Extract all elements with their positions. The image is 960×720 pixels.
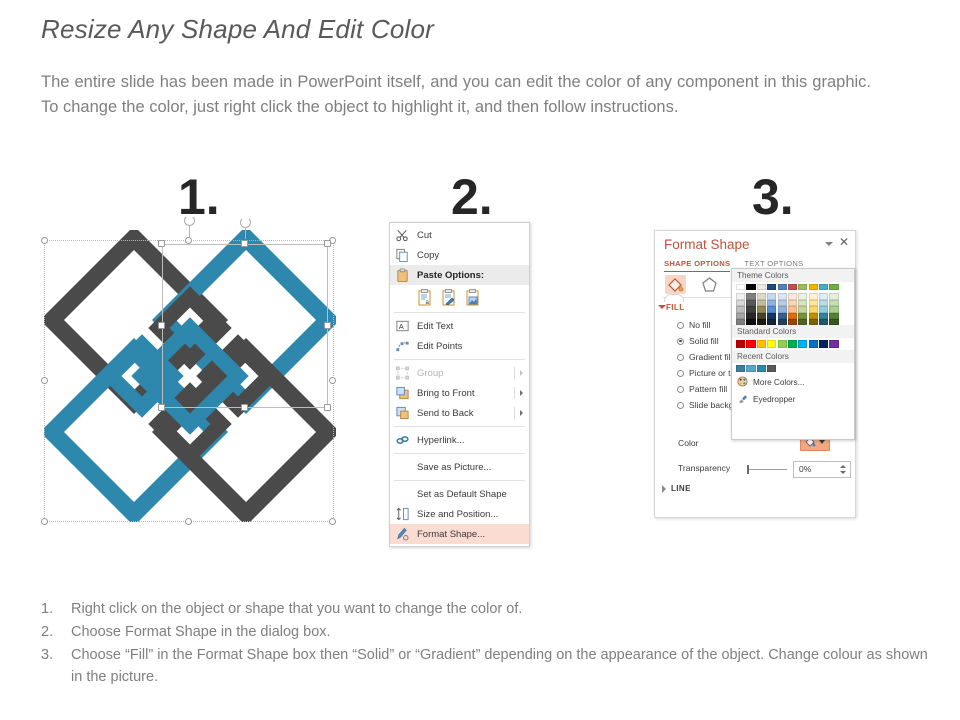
resize-handle-e[interactable] — [329, 377, 336, 384]
resize-handle-n[interactable] — [185, 237, 192, 244]
list-number: 1. — [41, 598, 71, 620]
theme-color-column[interactable] — [757, 284, 766, 325]
transparency-stepper[interactable]: 0% — [793, 461, 851, 478]
resize-handle-sw[interactable] — [41, 518, 48, 525]
list-text: Choose Format Shape in the dialog box. — [71, 621, 941, 643]
paste-keep-text-icon[interactable]: a — [417, 289, 432, 306]
color-swatch[interactable] — [767, 365, 776, 373]
inner-handle-e[interactable] — [324, 322, 331, 329]
rotation-stem-outer — [189, 226, 190, 237]
submenu-divider — [514, 407, 515, 419]
pentagon-effects-icon[interactable] — [700, 276, 719, 293]
resize-handle-nw[interactable] — [41, 237, 48, 244]
list-number: 3. — [41, 644, 71, 688]
theme-color-column[interactable] — [829, 284, 838, 325]
list-text: Choose “Fill” in the Format Shape box th… — [71, 644, 941, 688]
menu-item-edit-text[interactable]: A Edit Text — [390, 316, 529, 336]
menu-label: Send to Back — [417, 408, 474, 419]
color-label: Color — [678, 438, 699, 448]
line-section-expand-icon[interactable] — [662, 485, 666, 493]
menu-separator — [394, 312, 525, 313]
submenu-divider — [514, 387, 515, 399]
color-swatch[interactable] — [778, 319, 787, 325]
eyedropper-item[interactable]: Eyedropper — [732, 391, 854, 408]
chevron-down-icon[interactable] — [819, 440, 825, 444]
list-item: 2. Choose Format Shape in the dialog box… — [41, 621, 941, 643]
recent-colors-header: Recent Colors — [732, 350, 854, 363]
step-numeral-3: 3. — [752, 172, 794, 222]
shape-graphic-panel — [44, 230, 336, 522]
color-swatch[interactable] — [746, 340, 755, 348]
color-swatch[interactable] — [746, 319, 755, 325]
list-number: 2. — [41, 621, 71, 643]
menu-item-set-default-shape[interactable]: Set as Default Shape — [390, 484, 529, 504]
resize-handle-w[interactable] — [41, 377, 48, 384]
intro-paragraph: The entire slide has been made in PowerP… — [41, 70, 871, 120]
color-swatch[interactable] — [757, 319, 766, 325]
send-back-icon — [395, 406, 410, 421]
clipboard-icon — [395, 268, 410, 283]
menu-item-format-shape[interactable]: Format Shape... — [390, 524, 529, 544]
menu-separator — [394, 480, 525, 481]
standard-colors-row[interactable] — [732, 338, 854, 350]
color-dropdown-flyout[interactable]: Theme Colors Standard Colors Recent Colo… — [731, 268, 855, 440]
color-swatch[interactable] — [736, 365, 745, 373]
inner-handle-sw[interactable] — [158, 404, 165, 411]
color-swatch[interactable] — [819, 319, 828, 325]
color-swatch[interactable] — [778, 340, 787, 348]
color-swatch[interactable] — [746, 365, 755, 373]
theme-color-column[interactable] — [819, 284, 828, 325]
inner-handle-w[interactable] — [158, 322, 165, 329]
paste-picture-icon[interactable] — [465, 289, 480, 306]
theme-colors-grid[interactable] — [732, 282, 854, 325]
more-colors-label: More Colors... — [753, 378, 804, 387]
color-swatch[interactable] — [798, 319, 807, 325]
copy-icon — [395, 248, 410, 263]
menu-separator — [394, 453, 525, 454]
size-position-icon — [395, 507, 410, 522]
chevron-down-icon[interactable] — [825, 242, 833, 246]
theme-color-column[interactable] — [746, 284, 755, 325]
radio-label: Solid fill — [689, 336, 719, 346]
menu-label: Edit Text — [417, 321, 453, 332]
recent-colors-row[interactable] — [732, 363, 854, 375]
hyperlink-icon — [395, 433, 410, 448]
theme-color-column[interactable] — [809, 284, 818, 325]
color-swatch[interactable] — [757, 365, 766, 373]
group-icon — [395, 366, 410, 381]
more-colors-item[interactable]: More Colors... — [732, 374, 854, 391]
radio-label: Pattern fill — [689, 384, 727, 394]
theme-color-column[interactable] — [798, 284, 807, 325]
color-swatch[interactable] — [757, 340, 766, 348]
color-swatch[interactable] — [788, 340, 797, 348]
radio-dot[interactable] — [677, 402, 684, 409]
context-menu[interactable]: Cut Copy Paste Options: a — [389, 222, 530, 547]
color-swatch[interactable] — [736, 340, 745, 348]
rotation-stem-inner — [245, 228, 246, 239]
fill-section-title: FILL — [666, 303, 684, 312]
transparency-value: 0% — [799, 464, 811, 474]
radio-dot-selected[interactable] — [677, 338, 684, 345]
menu-label: Set as Default Shape — [417, 489, 507, 500]
close-icon[interactable]: ✕ — [839, 236, 849, 248]
step-numeral-2: 2. — [451, 172, 493, 222]
menu-label: Edit Points — [417, 341, 462, 352]
svg-text:A: A — [399, 322, 404, 331]
rotation-handle-outer[interactable] — [184, 215, 195, 226]
none-icon — [395, 460, 410, 475]
menu-label: Cut — [417, 230, 432, 241]
line-section-title: LINE — [671, 484, 691, 493]
color-swatch[interactable] — [736, 319, 745, 325]
menu-item-edit-points[interactable]: Edit Points — [390, 336, 529, 356]
paste-options-row[interactable]: a — [390, 285, 529, 309]
transparency-slider-thumb[interactable] — [747, 465, 749, 474]
menu-label: Format Shape... — [417, 529, 485, 540]
resize-handle-se[interactable] — [329, 518, 336, 525]
color-swatch[interactable] — [767, 319, 776, 325]
theme-color-column[interactable] — [736, 284, 745, 325]
menu-separator — [394, 359, 525, 360]
menu-label: Group — [417, 368, 443, 379]
page-title: Resize Any Shape And Edit Color — [41, 14, 921, 45]
inner-handle-se[interactable] — [324, 404, 331, 411]
slide-canvas: Resize Any Shape And Edit Color The enti… — [0, 0, 960, 720]
edit-points-icon — [395, 339, 410, 354]
menu-item-save-as-picture[interactable]: Save as Picture... — [390, 457, 529, 477]
none-icon — [395, 487, 410, 502]
submenu-divider — [514, 367, 515, 379]
chevron-right-icon — [520, 410, 523, 416]
rotation-handle-inner[interactable] — [240, 217, 251, 228]
inner-handle-s[interactable] — [241, 404, 248, 411]
chevron-right-icon — [520, 390, 523, 396]
inner-handle-n[interactable] — [241, 240, 248, 247]
active-tool-indicator — [664, 294, 684, 302]
stepper-down-icon[interactable] — [840, 471, 846, 474]
resize-handle-s[interactable] — [185, 518, 192, 525]
tab-shape-options[interactable]: SHAPE OPTIONS — [664, 259, 730, 272]
menu-label: Size and Position... — [417, 509, 498, 520]
color-swatch[interactable] — [767, 340, 776, 348]
radio-dot[interactable] — [677, 386, 684, 393]
inner-handle-nw[interactable] — [158, 240, 165, 247]
instructions-list: 1. Right click on the object or shape th… — [41, 598, 941, 689]
list-item: 3. Choose “Fill” in the Format Shape box… — [41, 644, 941, 688]
list-text: Right click on the object or shape that … — [71, 598, 941, 620]
color-swatch[interactable] — [798, 340, 807, 348]
theme-color-column[interactable] — [767, 284, 776, 325]
menu-label: Save as Picture... — [417, 462, 491, 473]
color-swatch[interactable] — [809, 340, 818, 348]
radio-dot[interactable] — [677, 322, 684, 329]
menu-label: Bring to Front — [417, 388, 475, 399]
menu-item-paste-options[interactable]: Paste Options: — [390, 265, 529, 285]
eyedropper-icon — [737, 393, 748, 406]
fill-bucket-icon[interactable] — [665, 275, 686, 294]
selection-bounds-inner[interactable] — [162, 244, 328, 408]
list-item: 1. Right click on the object or shape th… — [41, 598, 941, 620]
palette-icon — [737, 376, 748, 389]
color-swatch[interactable] — [819, 340, 828, 348]
menu-item-send-to-back[interactable]: Send to Back — [390, 403, 529, 423]
radio-dot[interactable] — [677, 370, 684, 377]
menu-separator — [394, 426, 525, 427]
radio-label: No fill — [689, 320, 711, 330]
menu-label: Paste Options: — [417, 270, 484, 281]
color-swatch[interactable] — [809, 319, 818, 325]
radio-dot[interactable] — [677, 354, 684, 361]
color-swatch[interactable] — [829, 319, 838, 325]
section-expand-icon[interactable] — [658, 305, 666, 309]
menu-item-copy[interactable]: Copy — [390, 245, 529, 265]
scissors-icon — [395, 228, 410, 243]
menu-item-bring-to-front[interactable]: Bring to Front — [390, 383, 529, 403]
chevron-right-icon — [520, 370, 523, 376]
theme-colors-header: Theme Colors — [732, 269, 854, 282]
pane-title: Format Shape — [664, 237, 750, 252]
color-swatch[interactable] — [788, 319, 797, 325]
inner-handle-ne[interactable] — [324, 240, 331, 247]
theme-color-column[interactable] — [788, 284, 797, 325]
edit-text-icon: A — [395, 319, 410, 334]
menu-item-hyperlink[interactable]: Hyperlink... — [390, 430, 529, 450]
stepper-up-icon[interactable] — [840, 465, 846, 468]
bring-front-icon — [395, 386, 410, 401]
menu-label: Hyperlink... — [417, 435, 465, 446]
transparency-label: Transparency — [678, 463, 730, 473]
theme-color-column[interactable] — [778, 284, 787, 325]
format-shape-icon — [395, 527, 410, 542]
radio-label: Gradient fill — [689, 352, 732, 362]
menu-item-group: Group — [390, 363, 529, 383]
menu-item-size-and-position[interactable]: Size and Position... — [390, 504, 529, 524]
color-swatch[interactable] — [829, 340, 838, 348]
standard-colors-header: Standard Colors — [732, 325, 854, 338]
menu-item-cut[interactable]: Cut — [390, 225, 529, 245]
step-numeral-1: 1. — [178, 172, 220, 222]
paste-keep-formatting-icon[interactable] — [441, 289, 456, 306]
menu-label: Copy — [417, 250, 439, 261]
transparency-slider-track[interactable] — [749, 469, 787, 470]
eyedropper-label: Eyedropper — [753, 395, 795, 404]
